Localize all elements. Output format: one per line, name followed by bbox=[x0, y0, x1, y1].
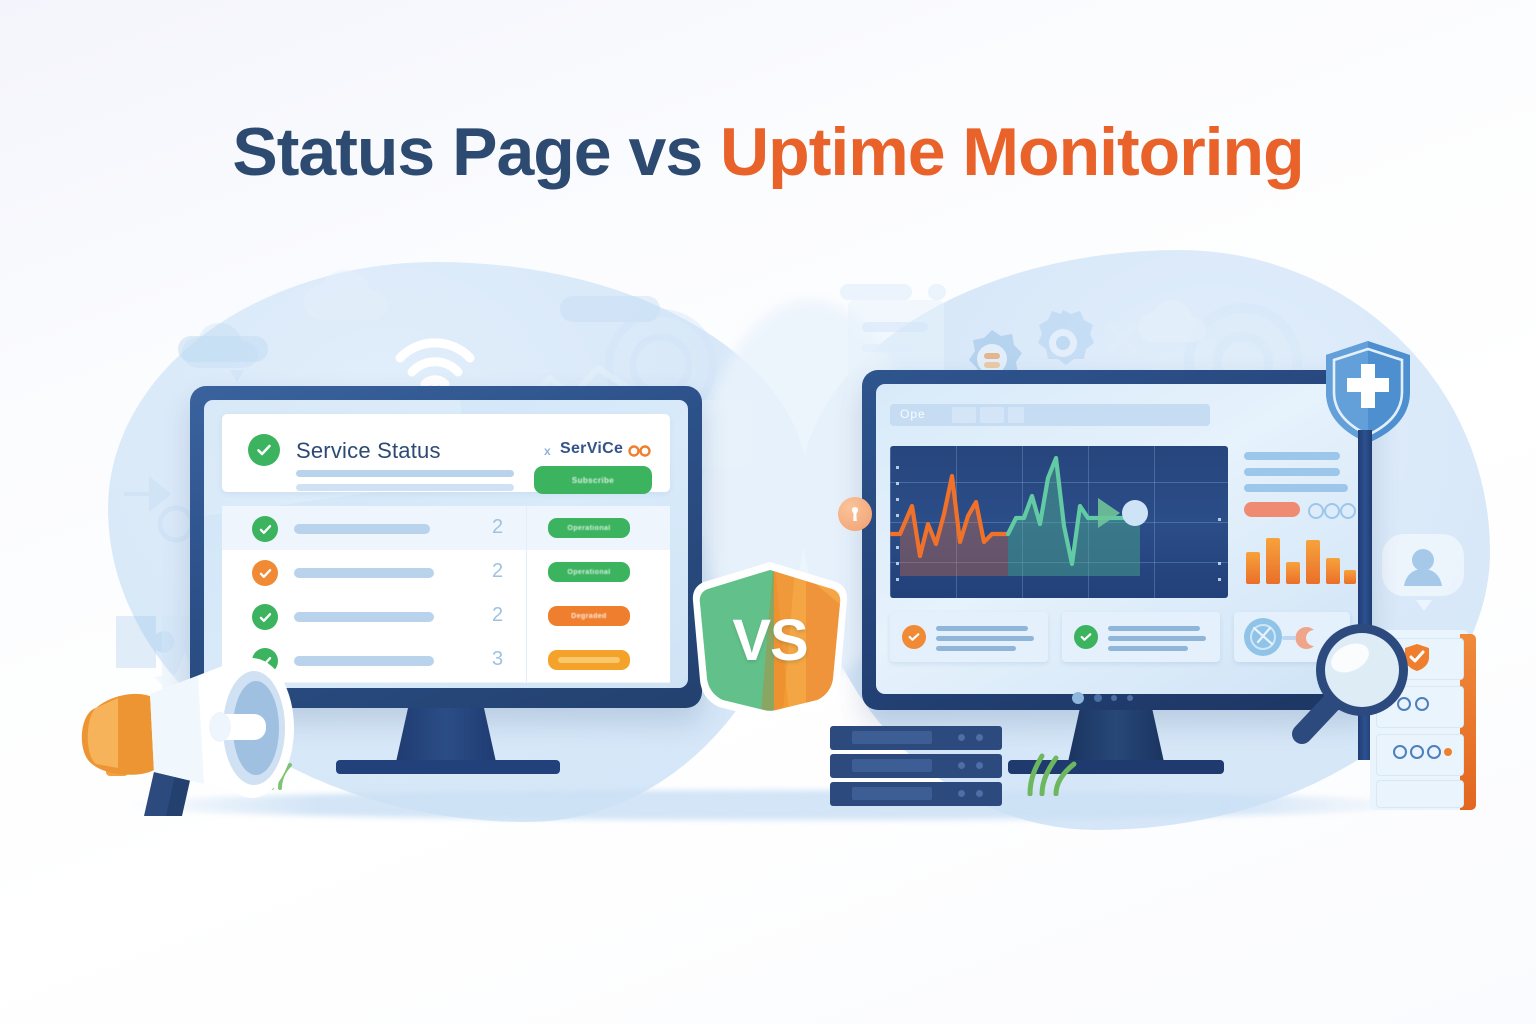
page-title-primary: Status Page vs bbox=[232, 114, 720, 190]
vs-badge-label: VS bbox=[686, 556, 854, 724]
left-monitor-neck bbox=[396, 708, 496, 762]
logo-x-mark: x bbox=[544, 444, 551, 458]
card-line bbox=[1108, 646, 1188, 651]
status-card[interactable] bbox=[1062, 612, 1220, 662]
response-time-chart bbox=[890, 446, 1228, 598]
dashboard-topbar-label: Ope bbox=[900, 407, 926, 421]
status-badge[interactable]: Operational bbox=[548, 518, 630, 538]
chart-marker-dot bbox=[1122, 500, 1148, 526]
metric-value: 2 bbox=[492, 604, 503, 627]
sidebar-line bbox=[1244, 468, 1340, 476]
status-badge[interactable]: Degraded bbox=[548, 606, 630, 626]
subscribe-button-label: Subscribe bbox=[572, 476, 614, 485]
server-led bbox=[976, 762, 983, 769]
mini-bar bbox=[1344, 570, 1356, 584]
service-name-placeholder bbox=[294, 612, 434, 622]
server-unit bbox=[830, 726, 1002, 750]
status-card[interactable] bbox=[890, 612, 1048, 662]
check-circle-icon bbox=[902, 625, 926, 649]
check-circle-icon bbox=[252, 560, 278, 586]
document-line bbox=[862, 322, 928, 332]
server-led bbox=[976, 790, 983, 797]
sidebar-line bbox=[1244, 484, 1348, 492]
document-icon bbox=[840, 284, 912, 300]
gauge-needle-icon bbox=[1250, 622, 1278, 650]
cloud-icon bbox=[1126, 296, 1246, 356]
check-circle-icon bbox=[1074, 625, 1098, 649]
illustration-canvas: Status Page vs Uptime Monitoring Service… bbox=[0, 0, 1536, 1024]
vs-shield-badge: VS bbox=[686, 556, 854, 724]
chart-series-group bbox=[890, 446, 1228, 598]
mini-bar bbox=[1266, 538, 1280, 584]
server-led bbox=[958, 790, 965, 797]
service-name-placeholder bbox=[294, 524, 430, 534]
mini-bar bbox=[1326, 558, 1340, 584]
cabinet-slot bbox=[1376, 780, 1464, 808]
card-line bbox=[936, 636, 1034, 641]
subscribe-button[interactable]: Subscribe bbox=[534, 466, 652, 494]
topbar-segment bbox=[1008, 407, 1024, 423]
status-badge[interactable] bbox=[548, 650, 630, 670]
brand-logo-text: SerViCe bbox=[560, 440, 623, 458]
topbar-segment bbox=[952, 407, 976, 423]
cloud-icon bbox=[290, 268, 430, 338]
metric-value: 2 bbox=[492, 560, 503, 583]
check-circle-icon bbox=[248, 434, 280, 466]
card-line bbox=[1108, 626, 1200, 631]
status-badge-label: Operational bbox=[567, 569, 610, 576]
lock-icon bbox=[838, 497, 872, 531]
server-led bbox=[958, 762, 965, 769]
sidebar-toggle-icon[interactable] bbox=[1308, 503, 1324, 519]
document-line bbox=[862, 344, 914, 352]
user-icon bbox=[1378, 528, 1468, 612]
server-led bbox=[958, 734, 965, 741]
topbar-segment bbox=[980, 407, 1004, 423]
server-slot bbox=[852, 759, 932, 772]
header-placeholder-line bbox=[296, 484, 514, 491]
card-line bbox=[1108, 636, 1206, 641]
monitor-control-dots bbox=[1068, 690, 1164, 706]
server-unit bbox=[830, 754, 1002, 778]
metric-value: 3 bbox=[492, 648, 503, 671]
sidebar-status-pill[interactable] bbox=[1244, 502, 1300, 517]
cloud-icon bbox=[170, 320, 300, 390]
status-badge-label: Operational bbox=[567, 525, 610, 532]
mini-bar bbox=[1306, 540, 1320, 584]
metric-value: 2 bbox=[492, 516, 503, 539]
header-placeholder-line bbox=[296, 470, 514, 477]
table-column-divider bbox=[526, 506, 527, 682]
sidebar-line bbox=[1244, 452, 1340, 460]
dashboard-topbar bbox=[890, 404, 1210, 426]
check-circle-icon bbox=[252, 604, 278, 630]
card-line bbox=[936, 646, 1016, 651]
server-slot bbox=[852, 731, 932, 744]
card-line bbox=[936, 626, 1028, 631]
status-badge[interactable]: Operational bbox=[548, 562, 630, 582]
service-name-placeholder bbox=[294, 568, 434, 578]
megaphone-icon bbox=[62, 636, 322, 826]
server-unit bbox=[830, 782, 1002, 806]
server-led bbox=[976, 734, 983, 741]
page-title-accent: Uptime Monitoring bbox=[720, 114, 1304, 190]
page-title: Status Page vs Uptime Monitoring bbox=[0, 118, 1536, 186]
grass-decoration bbox=[1022, 752, 1086, 796]
magnifier-icon bbox=[1290, 612, 1426, 748]
document-icon bbox=[928, 284, 946, 300]
play-icon[interactable] bbox=[1098, 498, 1120, 528]
check-circle-icon bbox=[252, 516, 278, 542]
mini-bar bbox=[1286, 562, 1300, 584]
right-monitor-screen: Ope bbox=[876, 384, 1358, 694]
mini-bar bbox=[1246, 552, 1260, 584]
status-badge-progress bbox=[558, 657, 620, 663]
status-badge-label: Degraded bbox=[571, 613, 607, 620]
server-slot bbox=[852, 787, 932, 800]
logo-dots-icon bbox=[628, 444, 652, 458]
service-status-title: Service Status bbox=[296, 438, 441, 464]
server-rack-icon bbox=[830, 726, 1010, 810]
sidebar-toggle-icon[interactable] bbox=[1324, 503, 1340, 519]
sidebar-toggle-icon[interactable] bbox=[1340, 503, 1356, 519]
dashboard-sidebar bbox=[1240, 446, 1348, 598]
left-monitor-base bbox=[336, 760, 560, 774]
